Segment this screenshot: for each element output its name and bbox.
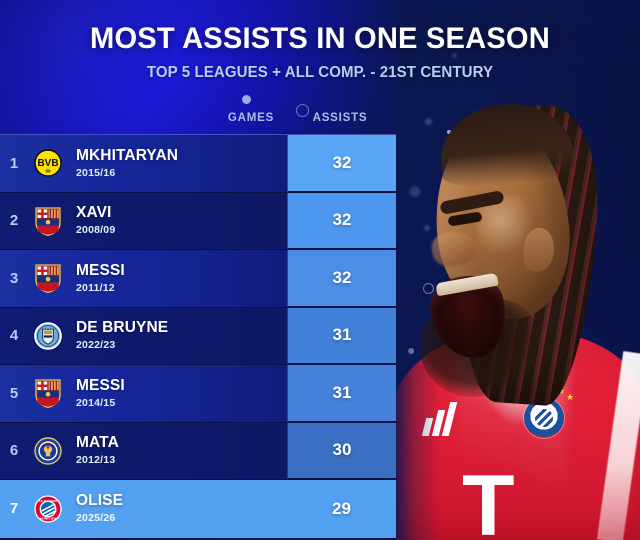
row-player-block: MESSI2011/12 xyxy=(68,263,324,294)
row-assists-value: 31 xyxy=(287,308,396,365)
table-row: 1BVB09MKHITARYAN2015/165232 xyxy=(0,135,396,193)
row-rank: 2 xyxy=(0,212,28,229)
row-rank: 1 xyxy=(0,155,28,172)
infographic-canvas: ★★★★★ T MOST ASSISTS IN ONE SEASON TOP 5… xyxy=(0,0,640,540)
svg-text:BVB: BVB xyxy=(37,158,58,169)
adidas-stripes-icon xyxy=(424,402,458,436)
row-player-block: MKHITARYAN2015/16 xyxy=(68,148,324,179)
row-rank: 5 xyxy=(0,385,28,402)
row-assists-value: 32 xyxy=(287,193,396,250)
column-header-games: GAMES xyxy=(215,112,287,124)
row-assists-value: 32 xyxy=(287,135,396,192)
row-assists-value: 29 xyxy=(287,480,396,538)
club-badge-bayern-icon: FC BAYERNMUNCHEN xyxy=(28,492,68,526)
row-player-block: MATA2012/13 xyxy=(68,435,324,466)
club-badge-barcelona-icon xyxy=(28,261,68,295)
row-assists-value: 30 xyxy=(287,423,396,480)
row-player-block: OLISE2025/26 xyxy=(68,493,324,524)
svg-text:FC BAYERN: FC BAYERN xyxy=(39,499,58,503)
club-badge-barcelona-icon xyxy=(28,376,68,410)
table-row: 4DE BRUYNE2022/234931 xyxy=(0,308,396,366)
ranking-table: 1BVB09MKHITARYAN2015/1652322XAVI2008/095… xyxy=(0,134,396,538)
table-row: 3MESSI2011/126032 xyxy=(0,250,396,308)
row-assists-value: 31 xyxy=(287,365,396,422)
row-player-block: MESSI2014/15 xyxy=(68,378,324,409)
column-headers: GAMES ASSISTS xyxy=(0,112,400,134)
svg-text:09: 09 xyxy=(45,169,51,174)
table-row: 2XAVI2008/095432 xyxy=(0,193,396,251)
row-rank: 3 xyxy=(0,270,28,287)
club-badge-mancity-icon xyxy=(28,319,68,353)
column-header-assists: ASSISTS xyxy=(292,112,388,124)
page-title: MOST ASSISTS IN ONE SEASON xyxy=(10,22,631,56)
row-assists-value: 32 xyxy=(287,250,396,307)
club-badge-chelsea-icon xyxy=(28,434,68,468)
row-rank: 6 xyxy=(0,442,28,459)
sponsor-logo: T xyxy=(462,470,558,540)
row-rank: 7 xyxy=(0,500,28,517)
header: MOST ASSISTS IN ONE SEASON TOP 5 LEAGUES… xyxy=(0,0,640,82)
table-row: 7FC BAYERNMUNCHENOLISE2025/264129 xyxy=(0,480,396,538)
row-player-block: DE BRUYNE2022/23 xyxy=(68,320,324,351)
table-row: 5MESSI2014/155731 xyxy=(0,365,396,423)
row-rank: 4 xyxy=(0,327,28,344)
table-row: 6MATA2012/136430 xyxy=(0,423,396,481)
row-player-block: XAVI2008/09 xyxy=(68,205,324,236)
club-badge-barcelona-icon xyxy=(28,204,68,238)
page-subtitle: TOP 5 LEAGUES + ALL COMP. - 21ST CENTURY xyxy=(10,64,631,82)
svg-text:MUNCHEN: MUNCHEN xyxy=(40,516,57,520)
club-badge-bvb-icon: BVB09 xyxy=(28,146,68,180)
